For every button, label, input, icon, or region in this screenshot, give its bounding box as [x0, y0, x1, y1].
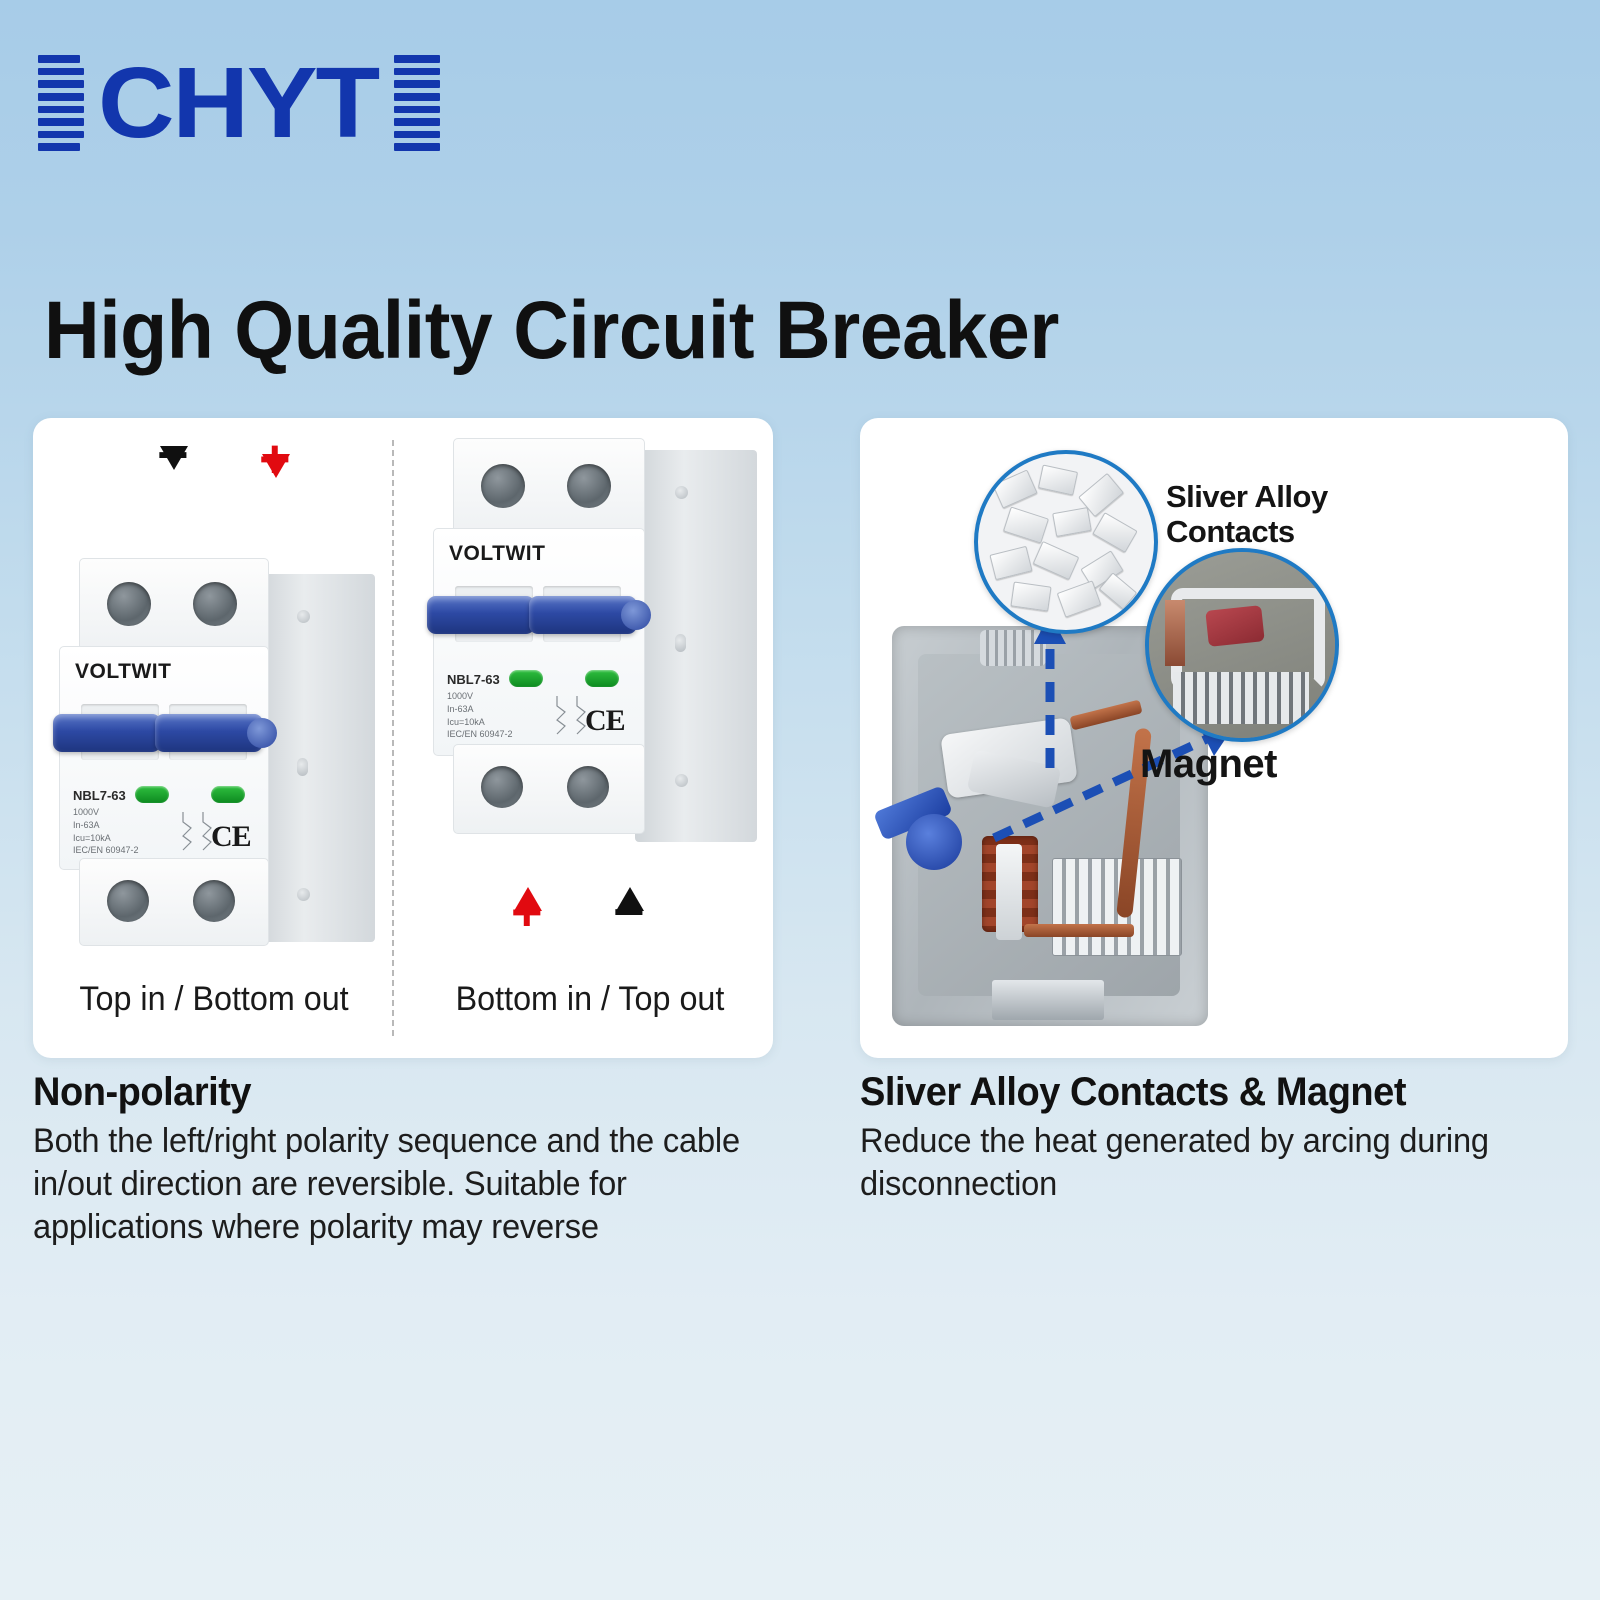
sliver-alloy-contacts-label: Sliver Alloy Contacts — [1166, 480, 1328, 549]
ce-mark-label: CE — [211, 820, 251, 854]
device-brand-label-2: VOLTWIT — [449, 542, 545, 566]
logo-bars-left-icon — [38, 55, 84, 151]
breaker-device-right: VOLTWIT NBL7-63 1000V In-63A Icu=10kA IE… — [423, 438, 763, 858]
mark-positive-bottom: + — [511, 870, 543, 936]
status-indicator-pole2 — [211, 786, 245, 803]
feature-title: Non-polarity — [33, 1068, 784, 1116]
device-spec-text-2: 1000V In-63A Icu=10kA IEC/EN 60947-2 — [447, 690, 513, 741]
breaker-device-left: VOLTWIT NBL7-63 1000V In-63A Icu=10kA IE… — [51, 558, 381, 958]
device-brand-label: VOLTWIT — [75, 660, 171, 684]
arrow-up-black-icon — [616, 870, 642, 888]
logo-wordmark: CHYT — [98, 55, 378, 151]
feature-title: Sliver Alloy Contacts & Magnet — [860, 1068, 1525, 1116]
label-line-1: Magnet — [1140, 742, 1277, 787]
arrow-down-red-icon — [262, 478, 288, 496]
arrow-up-red-icon — [514, 870, 540, 888]
feature-block-contacts-magnet: Sliver Alloy Contacts & Magnet Reduce th… — [860, 1068, 1560, 1206]
non-polarity-card: − + VOLTWIT NBL7-63 1000V In-63A Icu=10k… — [33, 418, 773, 1058]
device-model-label-2: NBL7-63 — [447, 672, 500, 687]
status-indicator-pole1 — [135, 786, 169, 803]
mark-positive-top: + — [259, 440, 291, 496]
mark-negative-bottom: − — [613, 870, 645, 936]
device-model-label: NBL7-63 — [73, 788, 126, 803]
feature-body: Both the left/right polarity sequence an… — [33, 1120, 791, 1249]
arrow-down-black-icon — [160, 470, 186, 488]
status-indicator-2-pole1 — [509, 670, 543, 687]
panel-divider — [392, 440, 394, 1036]
magnet-inset — [1145, 548, 1339, 742]
panel-caption-top-in: Top in / Bottom out — [67, 980, 362, 1019]
contacts-magnet-card: Sliver Alloy Contacts Magnet — [860, 418, 1568, 1058]
feature-block-non-polarity: Non-polarity Both the left/right polarit… — [33, 1068, 823, 1249]
toggle-lever-pole1[interactable] — [53, 714, 161, 752]
sliver-alloy-contacts-inset — [974, 450, 1158, 634]
ce-mark-label-2: CE — [585, 704, 625, 738]
status-indicator-2-pole2 — [585, 670, 619, 687]
panel-caption-bottom-in: Bottom in / Top out — [433, 980, 747, 1019]
magnet-label: Magnet — [1140, 742, 1277, 787]
device-spec-text: 1000V In-63A Icu=10kA IEC/EN 60947-2 — [73, 806, 139, 857]
page-title: High Quality Circuit Breaker — [44, 288, 1059, 374]
brand-logo: CHYT — [38, 48, 440, 158]
feature-body: Reduce the heat generated by arcing duri… — [860, 1120, 1532, 1206]
toggle-lever-2-pole1[interactable] — [427, 596, 535, 634]
mark-negative-top: − — [157, 440, 189, 488]
label-line-1: Sliver Alloy — [1166, 480, 1328, 515]
logo-bars-right-icon — [394, 55, 440, 151]
label-line-2: Contacts — [1166, 515, 1328, 550]
